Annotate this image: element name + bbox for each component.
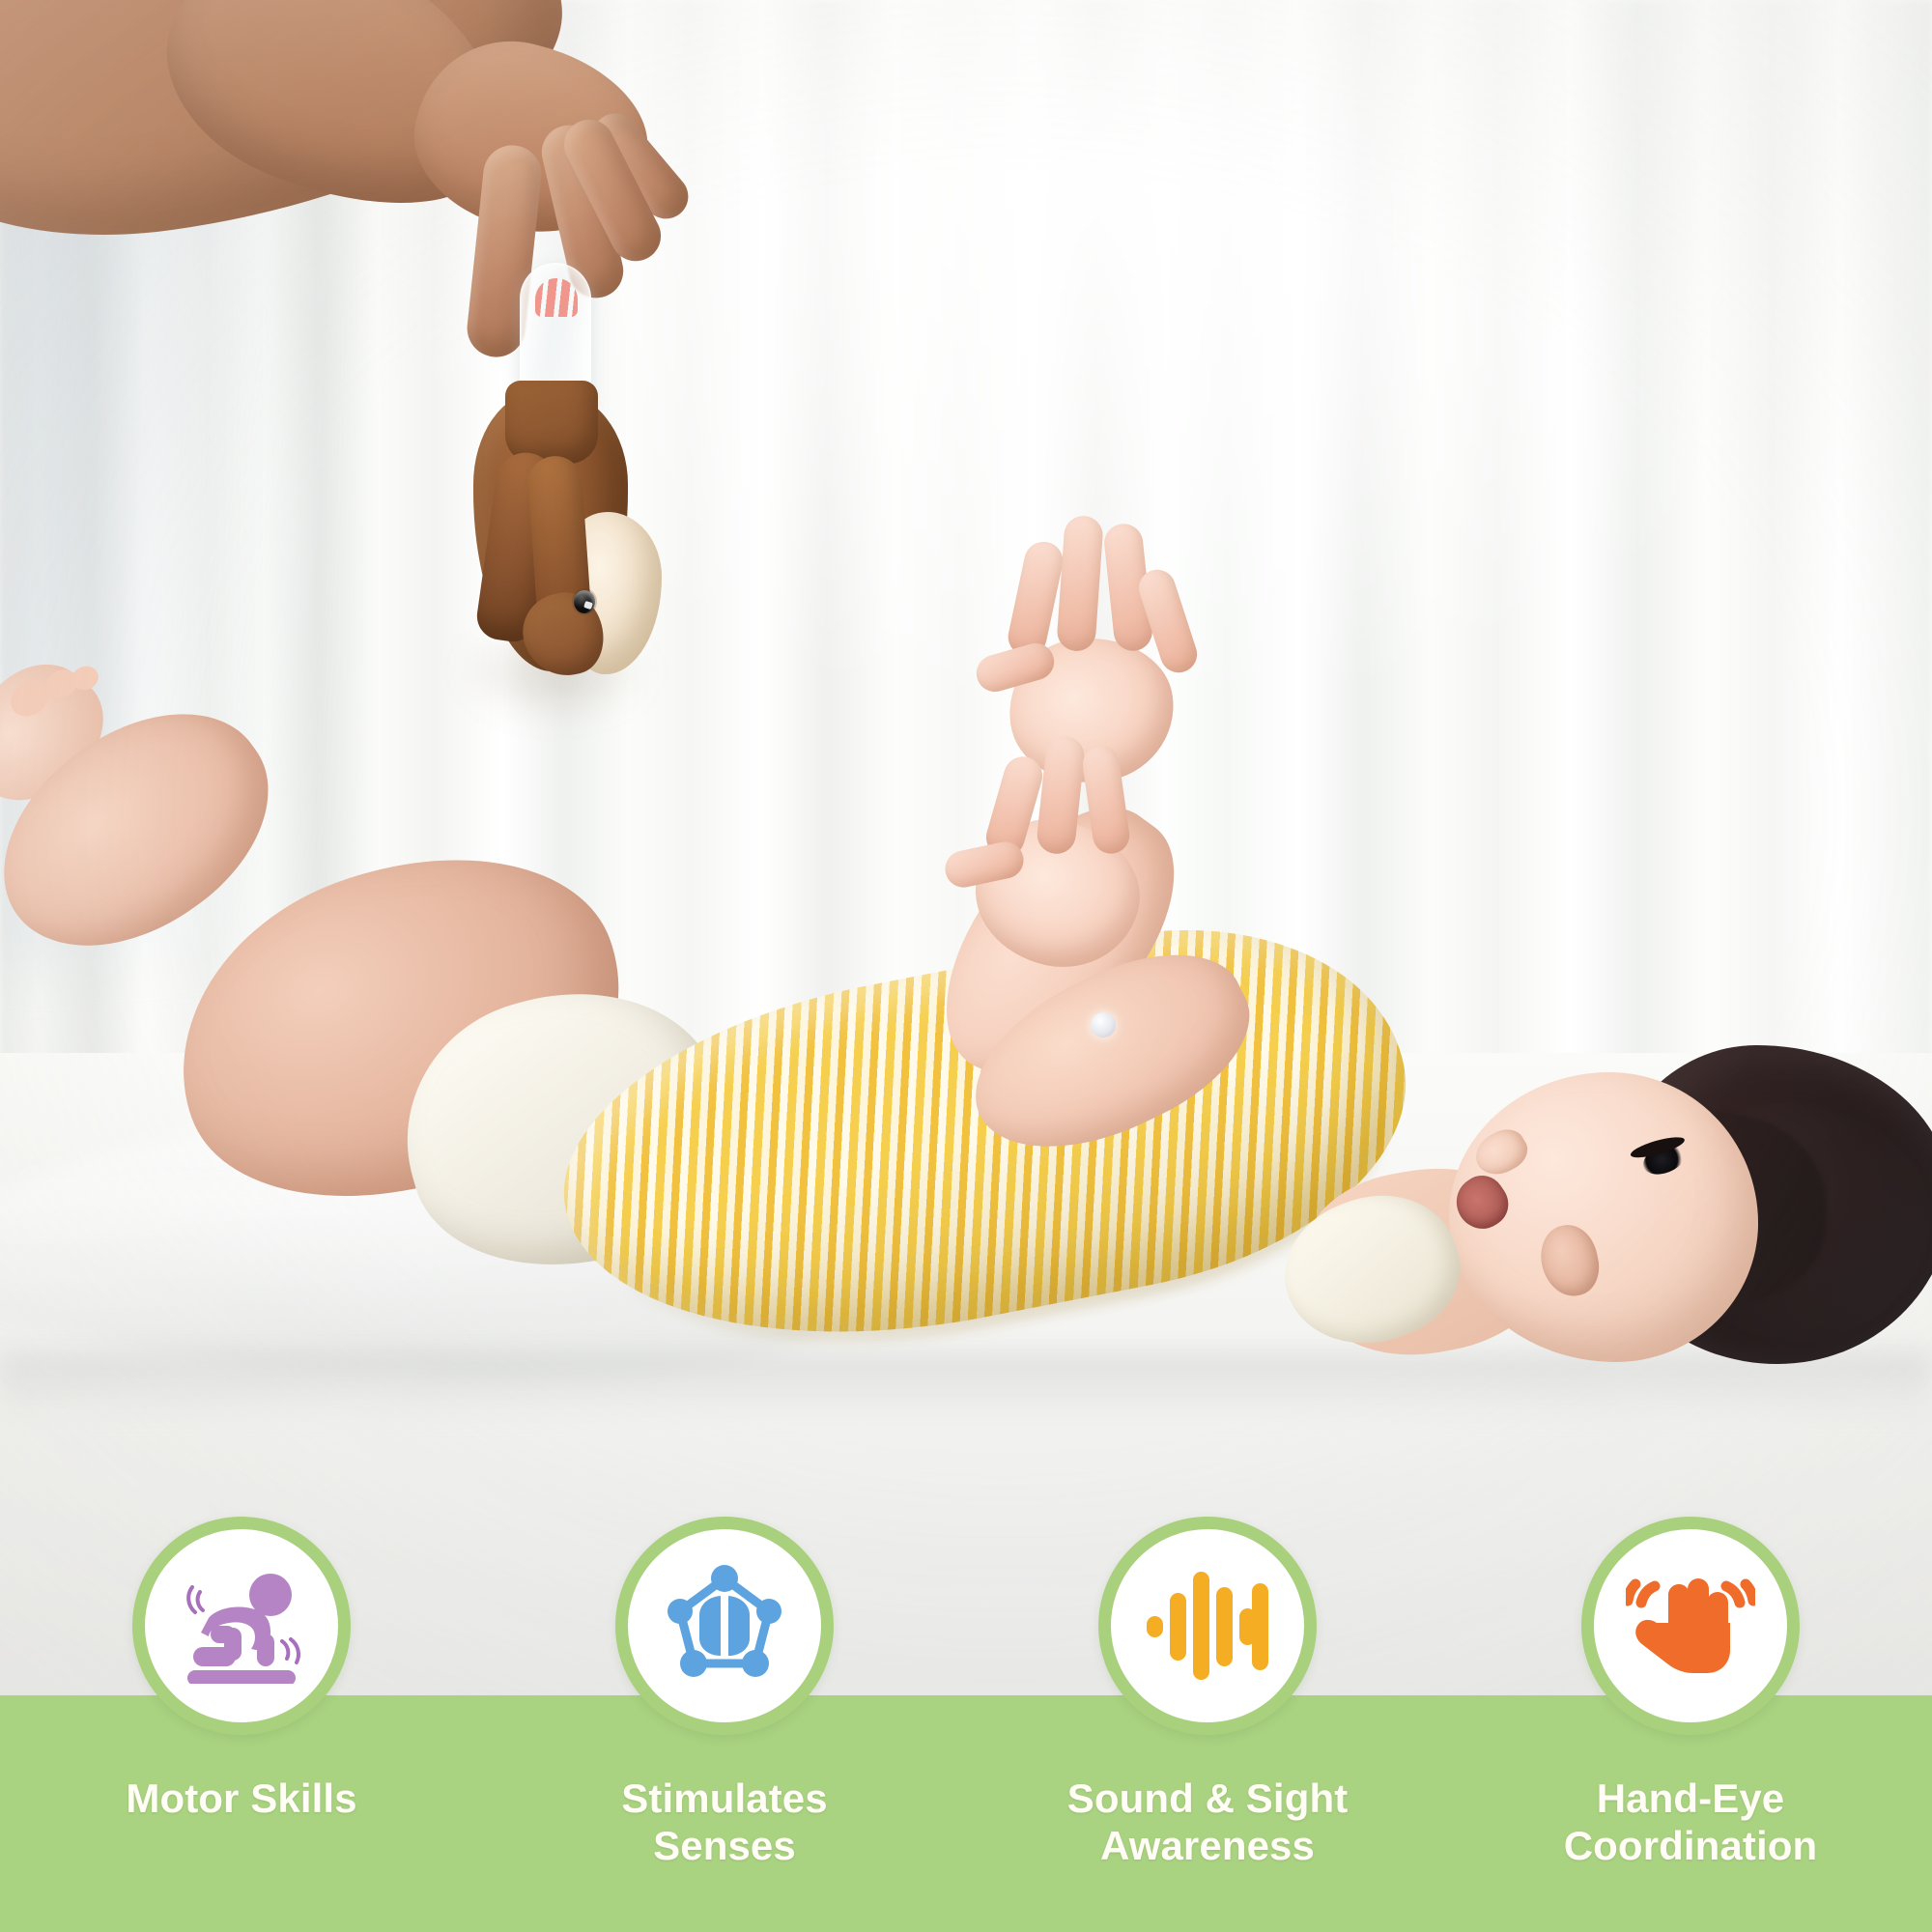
sound-wave-icon xyxy=(1143,1566,1272,1686)
feature-badge-row: Motor Skills xyxy=(0,1517,1932,1932)
product-lifestyle-image: Motor Skills xyxy=(0,0,1932,1932)
crawling-baby-icon xyxy=(174,1568,309,1684)
badge-circle xyxy=(1098,1517,1317,1735)
feature-badge-stimulates-senses[interactable]: Stimulates Senses xyxy=(483,1517,966,1932)
feature-badge-label: Stimulates Senses xyxy=(483,1776,966,1869)
feature-badge-hand-eye-coordination[interactable]: Hand-Eye Coordination xyxy=(1449,1517,1932,1932)
brain-network-icon xyxy=(659,1563,790,1689)
feature-badge-label: Motor Skills xyxy=(0,1776,483,1823)
feature-badge-motor-skills[interactable]: Motor Skills xyxy=(0,1517,483,1932)
badge-circle xyxy=(132,1517,351,1735)
feature-badge-sound-sight-awareness[interactable]: Sound & Sight Awareness xyxy=(966,1517,1449,1932)
waving-hand-icon xyxy=(1626,1563,1755,1689)
badge-circle xyxy=(615,1517,834,1735)
badge-circle xyxy=(1581,1517,1800,1735)
feature-badge-label: Hand-Eye Coordination xyxy=(1449,1776,1932,1869)
feature-badge-label: Sound & Sight Awareness xyxy=(966,1776,1449,1869)
